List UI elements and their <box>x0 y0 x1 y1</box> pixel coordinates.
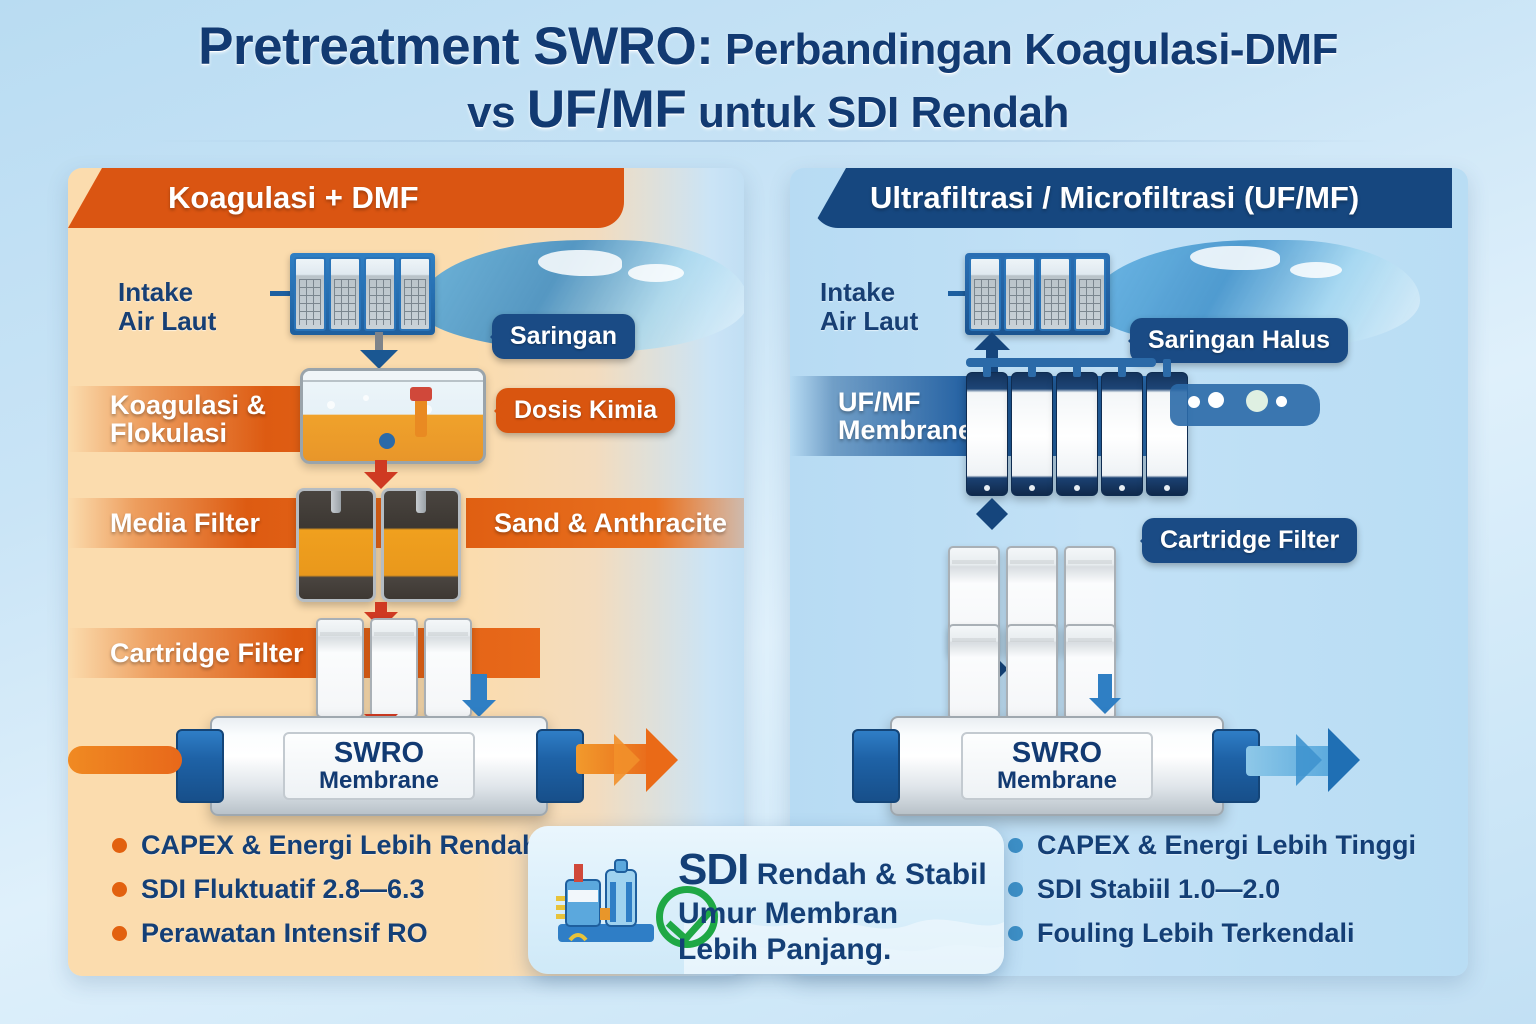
bullet-label: Fouling Lebih Terkendali <box>1037 918 1355 949</box>
intake-screen-unit <box>290 253 435 335</box>
uf-nozzle <box>1163 359 1171 377</box>
intake-label-line2: Air Laut <box>118 307 216 336</box>
bullet-label: SDI Fluktuatif 2.8—6.3 <box>141 874 425 905</box>
intake-screen-unit <box>965 253 1110 335</box>
swro-line1: SWRO <box>997 739 1117 769</box>
flow-arrow-down <box>364 472 398 489</box>
foam-art <box>628 264 684 282</box>
uf-membrane-rack <box>966 372 1188 496</box>
uf-bolt <box>1164 485 1170 491</box>
flow-stem <box>1098 674 1112 700</box>
swro-nameplate: SWRO Membrane <box>283 732 475 801</box>
uf-nozzle <box>1073 359 1081 377</box>
product-arrow-orange <box>646 728 678 792</box>
product-arrow-blue <box>1328 728 1360 792</box>
flow-arrow-down <box>360 350 398 369</box>
flow-arrow-up <box>974 332 1010 350</box>
bullet-label: Perawatan Intensif RO <box>141 918 428 949</box>
particle-dot <box>1246 390 1268 412</box>
stage-media-label: Media Filter <box>110 508 260 539</box>
desalination-plant-icon <box>552 852 662 952</box>
dosing-valve <box>410 387 432 401</box>
swro-membrane-left: SWRO Membrane <box>210 716 548 816</box>
cartridge <box>316 618 364 718</box>
flocculation-tank <box>300 368 486 464</box>
uf-bolt <box>984 485 990 491</box>
vessel-pipe <box>416 488 426 513</box>
bullet-list-right: CAPEX & Energi Lebih Tinggi SDI Stabiil … <box>1008 830 1416 962</box>
intake-label-line1: Intake <box>820 278 918 307</box>
swro-membrane-right: SWRO Membrane <box>890 716 1224 816</box>
media-vessel <box>381 488 461 602</box>
cartridge <box>370 618 418 718</box>
badge-dosis-kimia-label: Dosis Kimia <box>514 396 657 425</box>
cartridge <box>948 624 1000 720</box>
swro-nameplate: SWRO Membrane <box>961 732 1153 801</box>
sdi-line1-rest: Rendah & Stabil <box>748 858 986 891</box>
screen-bay <box>329 257 361 331</box>
sdi-summary-card: SDI Rendah & Stabil Umur Membran Lebih P… <box>528 826 1004 974</box>
bullet-item: Fouling Lebih Terkendali <box>1008 918 1416 949</box>
uf-nozzle <box>983 359 991 377</box>
vessel-pipe <box>331 488 341 513</box>
screen-bay <box>1074 257 1106 331</box>
feed-flow-orange <box>68 746 182 774</box>
dosing-probe <box>415 397 427 437</box>
title-divider <box>150 140 1386 142</box>
bullet-item: SDI Stabiil 1.0—2.0 <box>1008 874 1416 905</box>
stage-ufmf-line1: UF/MF <box>838 388 973 416</box>
badge-saringan-label: Saringan <box>510 322 617 351</box>
bullet-item: SDI Fluktuatif 2.8—6.3 <box>112 874 539 905</box>
flow-stem <box>471 674 487 702</box>
tank-lid <box>300 368 486 382</box>
screen-bay <box>1039 257 1071 331</box>
flow-arrow-down <box>462 700 496 717</box>
bullet-item: CAPEX & Energi Lebih Rendah <box>112 830 539 861</box>
title-line1-rest: Perbandingan Koagulasi-DMF <box>713 25 1338 74</box>
title-line2-small: vs <box>467 88 527 137</box>
title-line1-bold: Pretreatment SWRO: <box>198 17 713 76</box>
product-arrow-orange-2 <box>614 734 640 786</box>
tank-bubble <box>327 401 335 409</box>
badge-saringan-halus-label: Saringan Halus <box>1148 326 1330 355</box>
uf-module <box>1056 372 1098 496</box>
mixer-head <box>379 433 395 449</box>
media-filter-unit <box>296 488 461 602</box>
bullet-dot-icon <box>1008 838 1023 853</box>
swro-end-cap <box>176 729 224 803</box>
badge-cartridge-filter[interactable]: Cartridge Filter <box>1142 518 1357 563</box>
badge-cartridge-filter-label: Cartridge Filter <box>1160 526 1339 555</box>
screen-bay <box>1004 257 1036 331</box>
title-line2-rest: untuk SDI Rendah <box>686 88 1069 137</box>
bullet-dot-icon <box>112 838 127 853</box>
uf-module <box>966 372 1008 496</box>
bullet-item: Perawatan Intensif RO <box>112 918 539 949</box>
particle-dot <box>1208 392 1224 408</box>
screen-bay <box>969 257 1001 331</box>
uf-module <box>1101 372 1143 496</box>
bullet-dot-icon <box>1008 882 1023 897</box>
panel-left-header: Koagulasi + DMF <box>68 168 624 228</box>
flow-arrow-up <box>976 498 1008 514</box>
bullet-dot-icon <box>112 926 127 941</box>
bullet-label: CAPEX & Energi Lebih Tinggi <box>1037 830 1416 861</box>
bullet-label: SDI Stabiil 1.0—2.0 <box>1037 874 1280 905</box>
infographic-canvas: Pretreatment SWRO: Perbandingan Koagulas… <box>0 0 1536 1024</box>
flow-arrow-down <box>1089 698 1121 714</box>
page-title: Pretreatment SWRO: Perbandingan Koagulas… <box>0 18 1536 138</box>
badge-saringan-halus[interactable]: Saringan Halus <box>1130 318 1348 363</box>
sdi-line2: Umur Membran <box>678 896 987 932</box>
uf-manifold <box>966 358 1156 367</box>
intake-label-right: Intake Air Laut <box>820 278 918 336</box>
sdi-line3: Lebih Panjang. <box>678 932 987 968</box>
badge-sand-anthracite: Sand & Anthracite <box>466 498 744 548</box>
flow-diamond <box>976 514 1008 530</box>
screen-bay <box>364 257 396 331</box>
uf-nozzle <box>1118 359 1126 377</box>
sdi-card-text: SDI Rendah & Stabil Umur Membran Lebih P… <box>678 844 987 968</box>
media-vessel <box>296 488 376 602</box>
uf-bolt <box>1074 485 1080 491</box>
stage-koagulasi-line2: Flokulasi <box>110 419 266 447</box>
stage-cartridge-label: Cartridge Filter <box>110 638 304 669</box>
foam-art <box>1290 262 1342 278</box>
cartridge-filter-unit-left <box>316 618 472 718</box>
panel-right-header: Ultrafiltrasi / Microfiltrasi (UF/MF) <box>812 168 1452 228</box>
stage-ufmf-line2: Membrane <box>838 416 973 444</box>
swro-end-cap <box>852 729 900 803</box>
panel-left-header-label: Koagulasi + DMF <box>168 180 419 216</box>
uf-module <box>1011 372 1053 496</box>
bullet-dot-icon <box>1008 926 1023 941</box>
swro-line1: SWRO <box>319 739 439 769</box>
bullet-label: CAPEX & Energi Lebih Rendah <box>141 830 539 861</box>
title-line2-bold: UF/MF <box>527 80 686 139</box>
tank-bubble <box>363 395 369 401</box>
cartridge <box>1006 624 1058 720</box>
intake-label-line1: Intake <box>118 278 216 307</box>
uf-bolt <box>1029 485 1035 491</box>
badge-saringan[interactable]: Saringan <box>492 314 635 359</box>
badge-dosis-kimia[interactable]: Dosis Kimia <box>496 388 675 433</box>
badge-sand-anthracite-label: Sand & Anthracite <box>494 508 727 539</box>
product-arrow-blue-2 <box>1296 734 1322 786</box>
bullet-list-left: CAPEX & Energi Lebih Rendah SDI Fluktuat… <box>112 830 539 962</box>
intake-label-left: Intake Air Laut <box>118 278 216 336</box>
bullet-item: CAPEX & Energi Lebih Tinggi <box>1008 830 1416 861</box>
uf-bolt <box>1119 485 1125 491</box>
stage-koagulasi-line1: Koagulasi & <box>110 391 266 419</box>
particle-dot <box>1188 396 1200 408</box>
swro-line2: Membrane <box>997 768 1117 793</box>
sdi-big-label: SDI <box>678 845 748 894</box>
bullet-dot-icon <box>112 882 127 897</box>
uf-nozzle <box>1028 359 1036 377</box>
intake-label-line2: Air Laut <box>820 307 918 336</box>
screen-bay <box>294 257 326 331</box>
screen-bay <box>399 257 431 331</box>
swro-line2: Membrane <box>319 768 439 793</box>
panel-right-header-label: Ultrafiltrasi / Microfiltrasi (UF/MF) <box>870 180 1359 216</box>
particle-dot <box>1276 396 1287 407</box>
